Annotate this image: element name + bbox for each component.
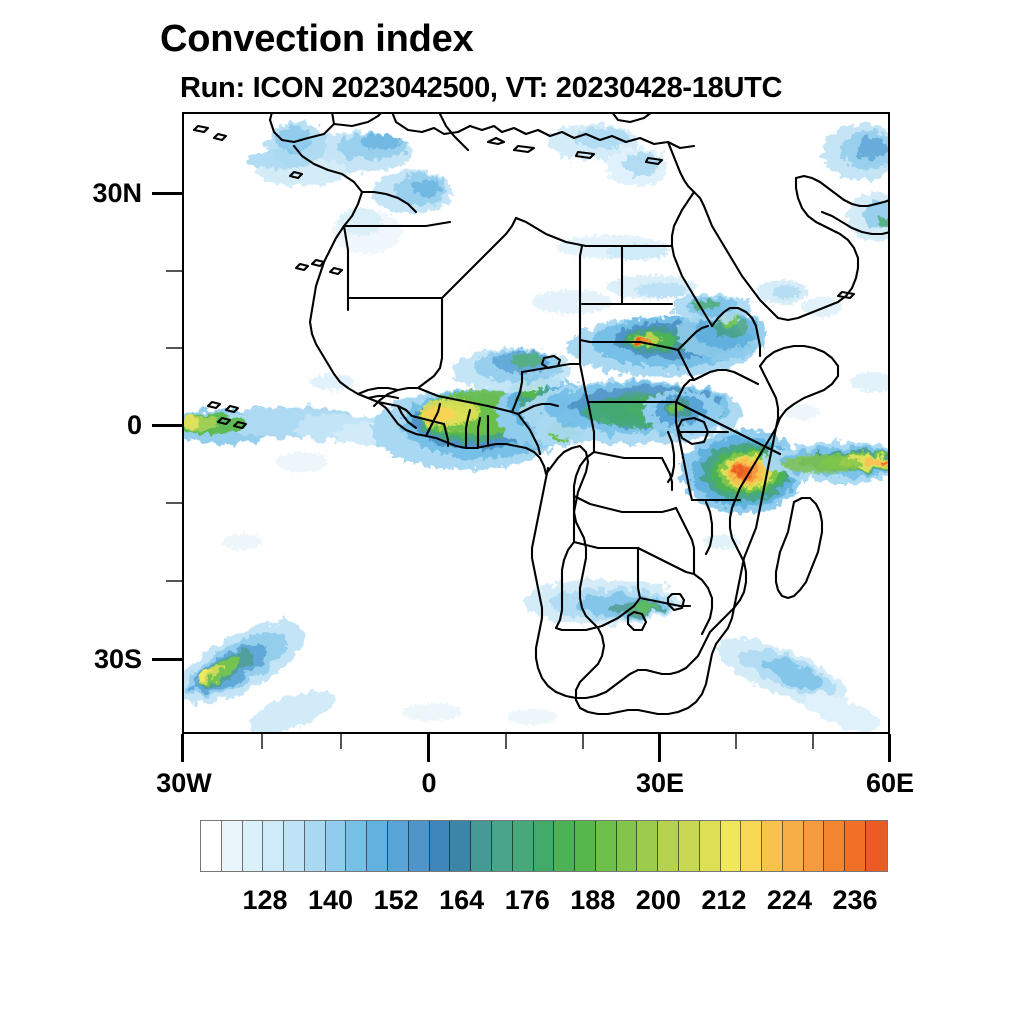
y-tick-label-0: 0 — [20, 410, 142, 441]
x-major-tick-30e — [658, 734, 661, 762]
colorbar-cell-10 — [409, 821, 430, 871]
colorbar-cell-3 — [263, 821, 284, 871]
y-major-tick-0 — [152, 424, 182, 427]
y-minor-tick-20s — [166, 580, 182, 582]
page-title: Convection index — [160, 18, 474, 61]
x-minor-tick-20w — [261, 734, 263, 749]
colorbar-cell-12 — [450, 821, 471, 871]
y-minor-tick-10s — [166, 502, 182, 504]
map-canvas — [182, 112, 890, 734]
colorbar-cell-4 — [284, 821, 305, 871]
colorbar-cell-23 — [679, 821, 700, 871]
colorbar-cell-29 — [804, 821, 825, 871]
y-minor-tick-20n — [166, 270, 182, 272]
x-major-tick-60e — [888, 734, 891, 762]
colorbar-cell-16 — [534, 821, 555, 871]
colorbar-tick-label-236: 236 — [815, 885, 895, 916]
x-minor-tick-40e — [735, 734, 737, 749]
colorbar-cell-32 — [866, 821, 887, 871]
y-major-tick-30s — [152, 658, 182, 661]
x-tick-label-30e: 30E — [598, 768, 722, 799]
x-major-tick-0 — [427, 734, 430, 762]
colorbar-cell-9 — [388, 821, 409, 871]
x-minor-tick-20e — [582, 734, 584, 749]
colorbar-cell-17 — [554, 821, 575, 871]
colorbar-cell-5 — [305, 821, 326, 871]
colorbar-cell-22 — [658, 821, 679, 871]
colorbar[interactable] — [200, 820, 888, 872]
x-major-tick-30w — [181, 734, 184, 762]
y-minor-tick-10n — [166, 347, 182, 349]
map-plot-area[interactable] — [182, 112, 890, 734]
x-tick-label-60e: 60E — [828, 768, 952, 799]
colorbar-cell-6 — [326, 821, 347, 871]
colorbar-cell-8 — [367, 821, 388, 871]
colorbar-cell-13 — [471, 821, 492, 871]
x-tick-label-0: 0 — [367, 768, 491, 799]
colorbar-cell-21 — [637, 821, 658, 871]
y-major-tick-30n — [152, 192, 182, 195]
colorbar-cell-14 — [492, 821, 513, 871]
colorbar-cell-24 — [700, 821, 721, 871]
colorbar-cell-7 — [346, 821, 367, 871]
colorbar-cell-31 — [845, 821, 866, 871]
x-minor-tick-10w — [340, 734, 342, 749]
colorbar-cell-19 — [596, 821, 617, 871]
convection-index-figure: Convection index Run: ICON 2023042500, V… — [0, 0, 1024, 1024]
y-tick-label-30n: 30N — [20, 178, 142, 209]
colorbar-cell-26 — [741, 821, 762, 871]
x-tick-label-30w: 30W — [122, 768, 246, 799]
colorbar-cell-20 — [617, 821, 638, 871]
figure-subtitle: Run: ICON 2023042500, VT: 20230428-18UTC — [180, 72, 782, 105]
colorbar-cell-0 — [201, 821, 222, 871]
colorbar-cell-1 — [222, 821, 243, 871]
x-minor-tick-10e — [505, 734, 507, 749]
colorbar-cell-27 — [762, 821, 783, 871]
colorbar-cell-2 — [243, 821, 264, 871]
y-tick-label-30s: 30S — [20, 644, 142, 675]
colorbar-cell-15 — [513, 821, 534, 871]
x-minor-tick-50e — [812, 734, 814, 749]
colorbar-cell-30 — [824, 821, 845, 871]
colorbar-cell-18 — [575, 821, 596, 871]
colorbar-cell-11 — [430, 821, 451, 871]
colorbar-cell-25 — [721, 821, 742, 871]
colorbar-cell-28 — [783, 821, 804, 871]
